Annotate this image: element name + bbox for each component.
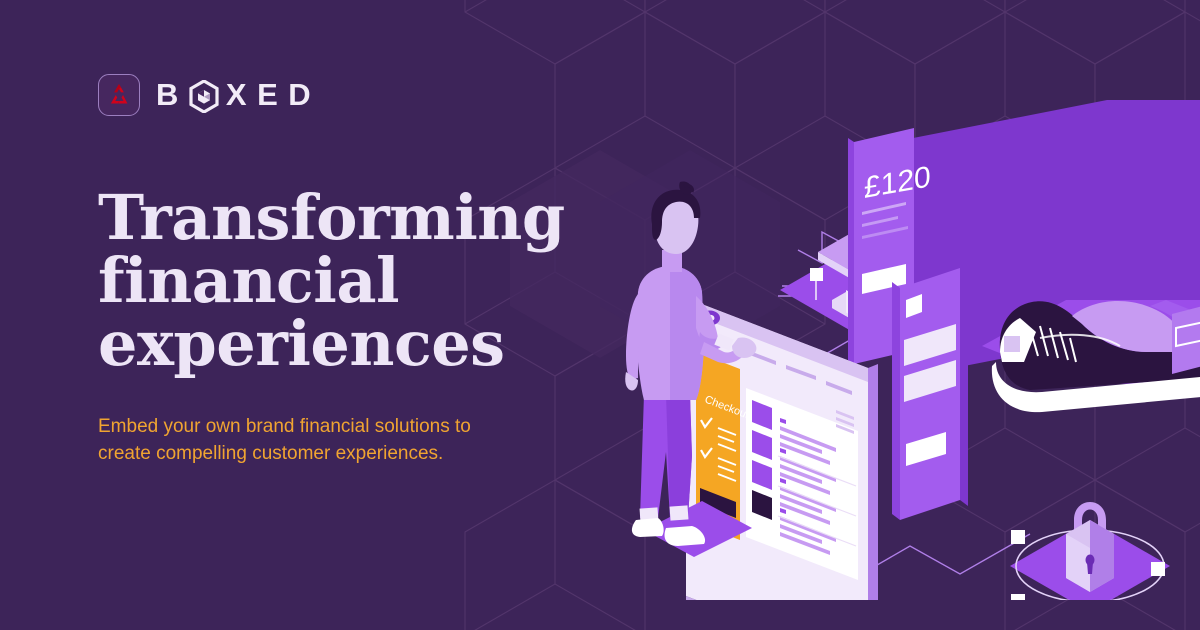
natwest-recycle-mark-icon (106, 82, 132, 108)
headline-line-2: financial (98, 249, 618, 312)
headline-line-3: experiences (98, 312, 618, 375)
wordmark-letter-e: E (257, 77, 281, 113)
logo-mark-tile (98, 74, 140, 116)
page-title: Transforming financial experiences (98, 186, 618, 376)
payment-form-card (892, 268, 968, 520)
padlock-security-group (1010, 502, 1170, 600)
wordmark-letter-b: B (156, 77, 182, 113)
sneaker-illustration (982, 300, 1200, 412)
wordmark: B X E D (156, 77, 314, 113)
page-subtitle: Embed your own brand financial solutions… (98, 414, 528, 468)
brand-logo[interactable]: B X E D (98, 74, 314, 116)
headline-line-1: Transforming (98, 186, 618, 249)
isometric-embedded-finance-scene: £120 (600, 100, 1200, 600)
hero-banner: B X E D Transforming financial experienc… (0, 0, 1200, 630)
cube-in-hexagon-icon (189, 80, 219, 113)
wordmark-letter-d: D (288, 77, 314, 113)
subtitle-line-2: create compelling customer experiences. (98, 441, 528, 468)
subtitle-line-1: Embed your own brand financial solutions… (98, 414, 528, 441)
wordmark-letter-x: X (226, 77, 250, 113)
